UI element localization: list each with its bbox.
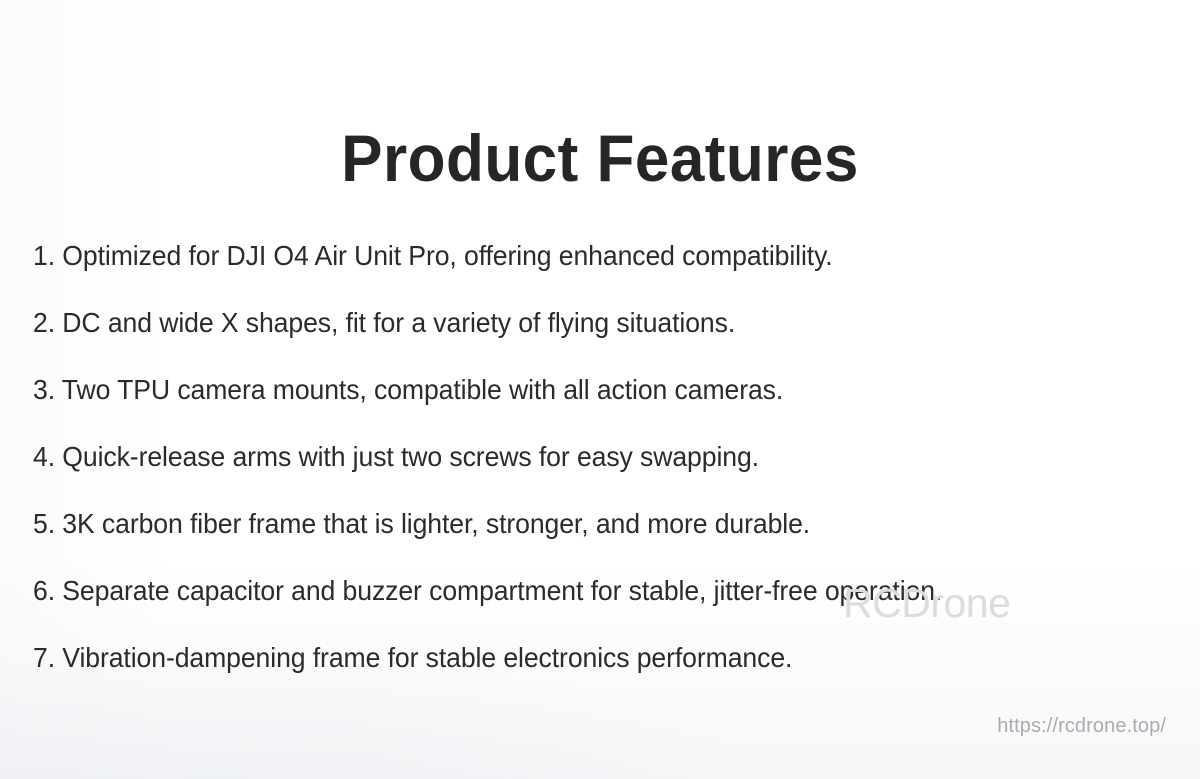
footer-website-url: https://rcdrone.top/ — [997, 715, 1166, 738]
feature-list: 1. Optimized for DJI O4 Air Unit Pro, of… — [33, 222, 1173, 691]
product-features-slide: Product Features 1. Optimized for DJI O4… — [0, 0, 1200, 779]
feature-list-item-1: 1. Optimized for DJI O4 Air Unit Pro, of… — [33, 222, 1116, 289]
feature-list-item-6: 6. Separate capacitor and buzzer compart… — [33, 557, 1116, 624]
feature-list-item-4: 4. Quick-release arms with just two scre… — [33, 423, 1116, 490]
feature-list-item-5: 5. 3K carbon fiber frame that is lighter… — [33, 490, 1116, 557]
feature-list-item-7: 7. Vibration-dampening frame for stable … — [33, 624, 1116, 691]
page-title: Product Features — [36, 124, 1164, 193]
feature-list-item-2: 2. DC and wide X shapes, fit for a varie… — [33, 289, 1116, 356]
feature-list-item-3: 3. Two TPU camera mounts, compatible wit… — [33, 356, 1116, 423]
